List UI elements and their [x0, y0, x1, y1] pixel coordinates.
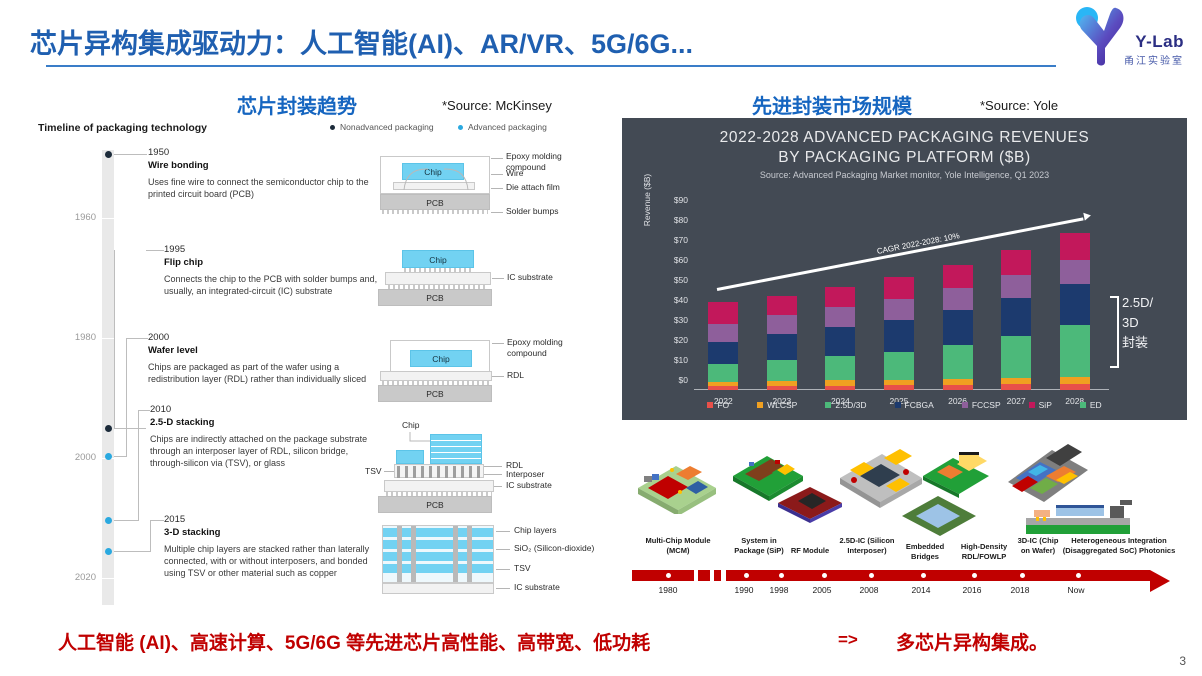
leader-ic-substrate — [492, 278, 504, 279]
annotation-line2: 3D — [1122, 314, 1139, 331]
connector-2010-h0 — [114, 520, 139, 521]
label-ic-substrate: IC substrate — [507, 272, 553, 283]
roadmap-marker-1990 — [744, 573, 749, 578]
roadmap-year-2008: 2008 — [849, 585, 889, 595]
leader-ic-substrate — [496, 588, 510, 589]
annotation-line1: 2.5D/ — [1122, 294, 1153, 311]
roadmap-year-2018: 2018 — [1000, 585, 1040, 595]
legend-swatch-FCBGA — [895, 402, 901, 408]
event-name: Wire bonding — [148, 159, 373, 172]
chip-small-block — [396, 450, 424, 464]
bar-segment-FCCSP — [708, 324, 738, 342]
bar-segment-FCCSP — [825, 307, 855, 327]
timeline-event-1950: 1950 Wire bonding Uses fine wire to conn… — [148, 147, 373, 200]
roadmap-year-2016: 2016 — [952, 585, 992, 595]
legend-item-FCBGA: FCBGA — [895, 400, 934, 410]
mcm-package-image — [630, 444, 722, 514]
legend-item-FO: FO — [707, 400, 729, 410]
bar-segment-FO — [1001, 384, 1031, 390]
connector-2000-h0 — [114, 456, 127, 457]
legend-label-ED: ED — [1090, 400, 1102, 410]
y-tick-label: $0 — [679, 375, 688, 385]
bar-segment-2.5D/3D — [1060, 325, 1090, 377]
roadmap-marker-2014 — [921, 573, 926, 578]
bar-segment-2.5D/3D — [884, 352, 914, 380]
legend-item-nonadvanced: Nonadvanced packaging — [330, 122, 434, 132]
bar-segment-FCBGA — [825, 327, 855, 356]
axis-tick-1960 — [102, 218, 114, 219]
y-tick-label: $50 — [674, 275, 688, 285]
connector-2015-v — [150, 520, 151, 551]
event-year: 1950 — [148, 147, 373, 159]
bar-segment-FCBGA — [1060, 284, 1090, 325]
solder-bumps-row — [382, 210, 488, 214]
event-year: 2015 — [164, 514, 389, 526]
bar-segment-SiP — [884, 277, 914, 299]
connector-2010-h — [138, 410, 150, 411]
label-sio2: SiO₂ (Silicon-dioxide) — [514, 543, 594, 554]
event-year: 2000 — [148, 332, 373, 344]
y-axis-label: Revenue ($B) — [642, 140, 652, 260]
timeline-node-1950 — [105, 151, 112, 158]
event-name: Flip chip — [164, 256, 389, 269]
roadmap-label-mcm: Multi-Chip Module (MCM) — [638, 536, 718, 555]
bar-segment-FCCSP — [1060, 260, 1090, 284]
roadmap-year-now: Now — [1056, 585, 1096, 595]
chip-layer-stack — [382, 525, 494, 583]
axis-label-1980: 1980 — [54, 332, 96, 343]
roadmap-year-1980: 1980 — [648, 585, 688, 595]
timeline-event-1995: 1995 Flip chip Connects the chip to the … — [164, 244, 389, 297]
packaging-roadmap: Multi-Chip Module (MCM) System in Packag… — [622, 430, 1187, 610]
chip-block: Chip — [402, 250, 474, 268]
legend-swatch-SiP — [1029, 402, 1035, 408]
legend-item-FCCSP: FCCSP — [962, 400, 1001, 410]
footer-arrow: => — [838, 630, 858, 650]
bar-2025 — [884, 277, 914, 390]
roadmap-marker-2008 — [869, 573, 874, 578]
bar-segment-2.5D/3D — [825, 356, 855, 380]
label-solder: Solder bumps — [506, 206, 558, 217]
bar-segment-2.5D/3D — [1001, 336, 1031, 378]
roadmap-bar-seg2 — [726, 570, 1150, 581]
legend-label-FO: FO — [717, 400, 729, 410]
ic-substrate-block — [382, 583, 494, 594]
logo-subtitle: 甬江实验室 — [1124, 52, 1184, 67]
embedded-bridge-image — [919, 444, 993, 498]
left-section-title: 芯片封装趋势 — [237, 90, 357, 119]
fowlp-image — [898, 492, 980, 540]
bar-segment-FO — [767, 386, 797, 390]
pcb-block: PCB — [380, 194, 490, 210]
event-year: 1995 — [164, 244, 389, 256]
bar-segment-2.5D/3D — [943, 345, 973, 379]
leader-tsv — [384, 471, 394, 472]
bar-segment-2.5D/3D — [708, 364, 738, 382]
event-desc: Chips are indirectly attached on the pac… — [150, 433, 375, 469]
chart-title-line2: BY PACKAGING PLATFORM ($B) — [622, 149, 1187, 167]
legend-label-advanced: Advanced packaging — [468, 122, 547, 132]
bar-2027 — [1001, 250, 1031, 390]
slide-root: 芯片异构集成驱动力：人工智能(AI)、AR/VR、5G/6G... Y-Lab … — [0, 0, 1202, 676]
roadmap-year-1998: 1998 — [759, 585, 799, 595]
label-wire: Wire — [506, 168, 523, 179]
bar-segment-FO — [708, 386, 738, 390]
bar-segment-FO — [884, 385, 914, 390]
leader-sio2 — [496, 549, 510, 550]
chart-title-line1: 2022-2028 ADVANCED PACKAGING REVENUES — [622, 129, 1187, 147]
y-tick-label: $90 — [674, 195, 688, 205]
cagr-arrowhead — [1083, 211, 1091, 220]
legend-item-WLCSP: WLCSP — [757, 400, 797, 410]
label-chip-layers: Chip layers — [514, 525, 557, 536]
bar-segment-SiP — [708, 302, 738, 324]
right-section-source: *Source: Yole — [980, 98, 1058, 113]
axis-label-2000: 2000 — [54, 452, 96, 463]
connector-2000-v — [126, 338, 127, 456]
chart-subtitle: Source: Advanced Packaging Market monito… — [622, 170, 1187, 180]
legend-label-nonadvanced: Nonadvanced packaging — [340, 122, 434, 132]
bar-segment-SiP — [1001, 250, 1031, 275]
event-desc: Connects the chip to the PCB with solder… — [164, 273, 389, 297]
label-ic-substrate: IC substrate — [506, 480, 552, 491]
roadmap-year-2005: 2005 — [802, 585, 842, 595]
diagram-25d-stacking: Chip TSV PCB RDL Interposer — [360, 422, 610, 517]
legend-label-FCCSP: FCCSP — [972, 400, 1001, 410]
y-tick-label: $10 — [674, 355, 688, 365]
axis-tick-1980 — [102, 338, 114, 339]
connector-2010-v — [138, 410, 139, 520]
title-underline — [46, 65, 1056, 67]
legend-item-2.5D/3D: 2.5D/3D — [825, 400, 866, 410]
roadmap-bar-dash2 — [714, 570, 721, 581]
bar-2028 — [1060, 233, 1090, 390]
roadmap-marker-1998 — [779, 573, 784, 578]
footer-left-text: 人工智能 (AI)、高速计算、5G/6G 等先进芯片高性能、高带宽、低功耗 — [58, 628, 650, 655]
bar-segment-FO — [825, 386, 855, 390]
y-tick-label: $60 — [674, 255, 688, 265]
timeline-node-2010 — [105, 517, 112, 524]
leader-rdl — [492, 376, 504, 377]
connector-1995-h0 — [114, 428, 146, 429]
timeline-event-2010: 2010 2.5-D stacking Chips are indirectly… — [150, 404, 375, 469]
bar-segment-FO — [943, 385, 973, 390]
bar-segment-FCCSP — [884, 299, 914, 320]
label-rdl: RDL — [507, 370, 524, 381]
axis-tick-2020 — [102, 578, 114, 579]
roadmap-label-bridges: Embedded Bridges — [896, 542, 954, 561]
bond-wires — [380, 158, 492, 196]
label-die-attach: Die attach film — [506, 182, 560, 193]
bar-segment-SiP — [825, 287, 855, 308]
leader-ic-substrate — [494, 486, 502, 487]
leader-solder — [491, 212, 503, 213]
bar-segment-FCBGA — [708, 342, 738, 364]
roadmap-label-fowlp: High-Density RDL/FOWLP — [952, 542, 1016, 561]
diagram-flip-chip: Chip PCB IC substrate — [360, 250, 610, 320]
leader-epoxy — [492, 343, 504, 344]
timeline-heading: Timeline of packaging technology — [38, 122, 207, 134]
y-tick-label: $30 — [674, 315, 688, 325]
yole-revenue-chart: 2022-2028 ADVANCED PACKAGING REVENUES BY… — [622, 118, 1187, 420]
legend-label-SiP: SiP — [1039, 400, 1052, 410]
annotation-bracket — [1110, 296, 1119, 368]
legend-swatch-advanced — [458, 125, 463, 130]
bar-segment-WLCSP — [1060, 377, 1090, 384]
legend-swatch-WLCSP — [757, 402, 763, 408]
bar-2024 — [825, 287, 855, 390]
diagram-3d-stacking: Chip layers SiO₂ (Silicon-dioxide) TSV I… — [360, 525, 610, 605]
roadmap-arrow-head — [1150, 570, 1170, 592]
timeline-event-2000: 2000 Wafer level Chips are packaged as p… — [148, 332, 373, 385]
legend-swatch-ED — [1080, 402, 1086, 408]
page-number: 3 — [1179, 654, 1186, 668]
roadmap-label-hi: Heterogeneous Integration (Disaggregated… — [1059, 536, 1179, 555]
right-section-title: 先进封装市场规模 — [752, 90, 912, 119]
legend-item-SiP: SiP — [1029, 400, 1052, 410]
event-desc: Uses fine wire to connect the semiconduc… — [148, 176, 373, 200]
leader-die-attach — [491, 188, 503, 189]
timeline-node-1995 — [105, 425, 112, 432]
bar-segment-FCBGA — [1001, 298, 1031, 336]
y-tick-label: $40 — [674, 295, 688, 305]
roadmap-bar-seg1 — [632, 570, 694, 581]
pcb-block: PCB — [378, 496, 492, 513]
connector-1995-v — [114, 250, 146, 428]
legend-label-2.5D/3D: 2.5D/3D — [835, 400, 866, 410]
ylab-logo: Y-Lab 甬江实验室 — [1072, 4, 1190, 70]
leader-rdl — [484, 466, 502, 467]
leader-epoxy — [491, 158, 503, 159]
y-tick-label: $80 — [674, 215, 688, 225]
bar-segment-FCBGA — [767, 334, 797, 360]
roadmap-marker-2018 — [1020, 573, 1025, 578]
ic-substrate-block — [385, 272, 491, 285]
connector-1950 — [114, 154, 147, 155]
roadmap-marker-now — [1076, 573, 1081, 578]
label-ic-substrate: IC substrate — [514, 582, 560, 593]
bar-segment-FCBGA — [884, 320, 914, 352]
roadmap-label-3dic: 3D-IC (Chip on Wafer) — [1014, 536, 1062, 555]
event-name: Wafer level — [148, 344, 373, 357]
event-desc: Chips are packaged as part of the wafer … — [148, 361, 373, 385]
axis-label-2020: 2020 — [54, 572, 96, 583]
bar-segment-FCCSP — [767, 315, 797, 334]
legend-label-WLCSP: WLCSP — [767, 400, 797, 410]
timeline-node-2015 — [105, 548, 112, 555]
leader-chip-layers — [496, 531, 510, 532]
ic-substrate-block — [384, 480, 494, 492]
bar-segment-SiP — [1060, 233, 1090, 260]
annotation-line3: 封装 — [1122, 334, 1148, 351]
left-section-source: *Source: McKinsey — [442, 98, 552, 113]
rdl-block — [380, 371, 492, 381]
connector-2015-h — [150, 520, 164, 521]
timeline-legend: Nonadvanced packaging Advanced packaging — [330, 122, 569, 132]
event-year: 2010 — [150, 404, 375, 416]
chart-plot-area: Revenue ($B) $0$10$20$30$40$50$60$70$80$… — [694, 200, 1104, 390]
bar-segment-SiP — [767, 296, 797, 315]
connector-1995-h — [146, 250, 164, 251]
event-name: 3-D stacking — [164, 526, 389, 539]
pcb-block: PCB — [378, 385, 492, 402]
bar-segment-FO — [1060, 384, 1090, 390]
roadmap-marker-1980 — [666, 573, 671, 578]
label-epoxy: Epoxy molding compound — [507, 337, 599, 359]
y-tick-label: $70 — [674, 235, 688, 245]
bar-segment-FCCSP — [1001, 275, 1031, 298]
page-title: 芯片异构集成驱动力：人工智能(AI)、AR/VR、5G/6G... — [30, 22, 693, 61]
bar-2023 — [767, 296, 797, 390]
axis-label-1960: 1960 — [54, 212, 96, 223]
label-chip: Chip — [402, 420, 419, 431]
leader-interposer — [484, 474, 502, 475]
connector-2000-h — [126, 338, 148, 339]
label-tsv: TSV — [365, 466, 382, 477]
bar-segment-FCBGA — [943, 310, 973, 345]
pcb-block: PCB — [378, 289, 492, 306]
packaging-timeline-chart: Timeline of packaging technology Nonadva… — [30, 120, 610, 615]
legend-item-advanced: Advanced packaging — [458, 122, 547, 132]
roadmap-marker-2005 — [822, 573, 827, 578]
roadmap-label-rf: RF Module — [779, 546, 841, 556]
legend-swatch-FO — [707, 402, 713, 408]
bar-2026 — [943, 265, 973, 390]
label-tsv: TSV — [514, 563, 531, 574]
bar-segment-2.5D/3D — [767, 360, 797, 381]
label-interposer: Interposer — [506, 469, 544, 480]
y-tick-label: $20 — [674, 335, 688, 345]
bar-segment-FCCSP — [943, 288, 973, 310]
timeline-event-2015: 2015 3-D stacking Multiple chip layers a… — [164, 514, 389, 579]
timeline-node-2000 — [105, 453, 112, 460]
diagram-wafer-level: Chip PCB Epoxy molding compound RDL — [360, 338, 610, 413]
chip-block: Chip — [410, 350, 472, 367]
legend-label-FCBGA: FCBGA — [905, 400, 934, 410]
bar-2022 — [708, 302, 738, 390]
legend-swatch-nonadvanced — [330, 125, 335, 130]
diagram-wire-bonding: Chip PCB Epoxy molding compound Wire Die… — [360, 152, 610, 232]
connector-2015-h0 — [114, 551, 151, 552]
footer-right-text: 多芯片异构集成。 — [896, 628, 1048, 655]
logo-name: Y-Lab — [1135, 32, 1184, 52]
roadmap-bar-dash1 — [698, 570, 710, 581]
leader-wire — [491, 174, 503, 175]
roadmap-year-1990: 1990 — [724, 585, 764, 595]
legend-item-ED: ED — [1080, 400, 1102, 410]
event-name: 2.5-D stacking — [150, 416, 375, 429]
event-desc: Multiple chip layers are stacked rather … — [164, 543, 389, 579]
leader-tsv — [496, 569, 510, 570]
chart-legend: FOWLCSP2.5D/3DFCBGAFCCSPSiPED — [622, 400, 1187, 410]
roadmap-year-2014: 2014 — [901, 585, 941, 595]
legend-swatch-2.5D/3D — [825, 402, 831, 408]
legend-swatch-FCCSP — [962, 402, 968, 408]
roadmap-label-25dic: 2.5D-IC (Silicon Interposer) — [834, 536, 900, 555]
interposer-block — [394, 464, 484, 478]
chip-stack-block — [430, 434, 482, 464]
bar-segment-SiP — [943, 265, 973, 288]
roadmap-marker-2016 — [972, 573, 977, 578]
